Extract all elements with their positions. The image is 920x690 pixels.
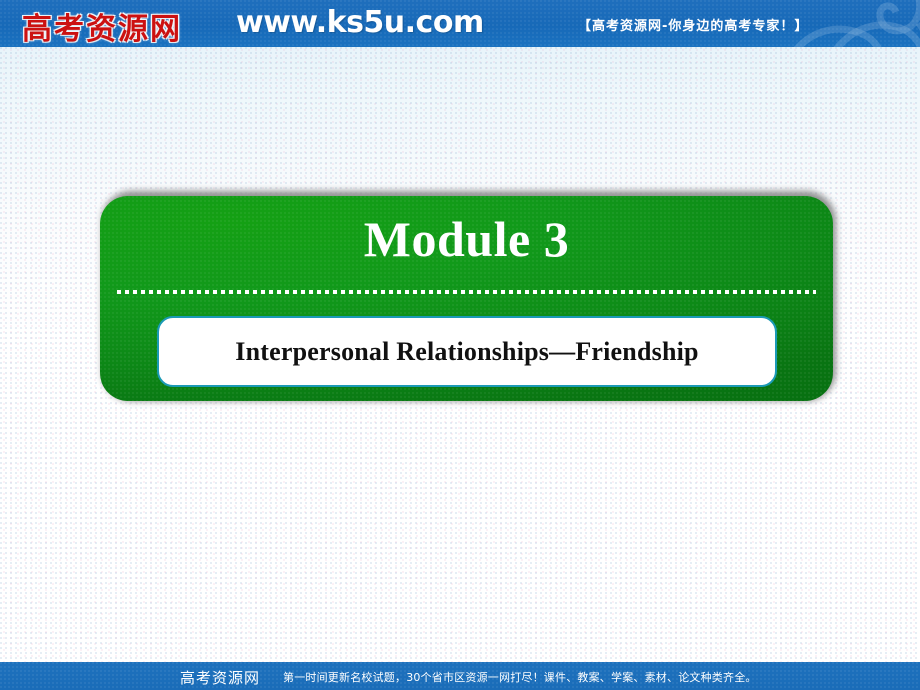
header-website-url[interactable]: www.ks5u.com [236, 5, 484, 40]
footer-tagline: 第一时间更新名校试题，30个省市区资源一网打尽！课件、教案、学案、素材、论文种类… [283, 669, 757, 685]
presentation-slide: 高考资源网 www.ks5u.com 【高考资源网-你身边的高考专家！】 Mod… [0, 0, 920, 690]
site-header-banner: 高考资源网 www.ks5u.com 【高考资源网-你身边的高考专家！】 [0, 0, 920, 47]
subtitle-box: Interpersonal Relationships—Friendship [157, 316, 777, 387]
module-title: Module 3 [100, 208, 833, 270]
subtitle-text: Interpersonal Relationships—Friendship [235, 337, 698, 367]
footer-logo-text[interactable]: 高考资源网 [180, 667, 260, 688]
header-tagline: 【高考资源网-你身边的高考专家！】 [578, 15, 808, 34]
dotted-separator [117, 290, 816, 294]
module-panel: Module 3 Interpersonal Relationships—Fri… [100, 191, 836, 403]
panel-body: Module 3 Interpersonal Relationships—Fri… [100, 196, 833, 401]
site-footer-banner: 高考资源网 第一时间更新名校试题，30个省市区资源一网打尽！课件、教案、学案、素… [0, 662, 920, 690]
header-logo-text[interactable]: 高考资源网 [22, 4, 182, 47]
